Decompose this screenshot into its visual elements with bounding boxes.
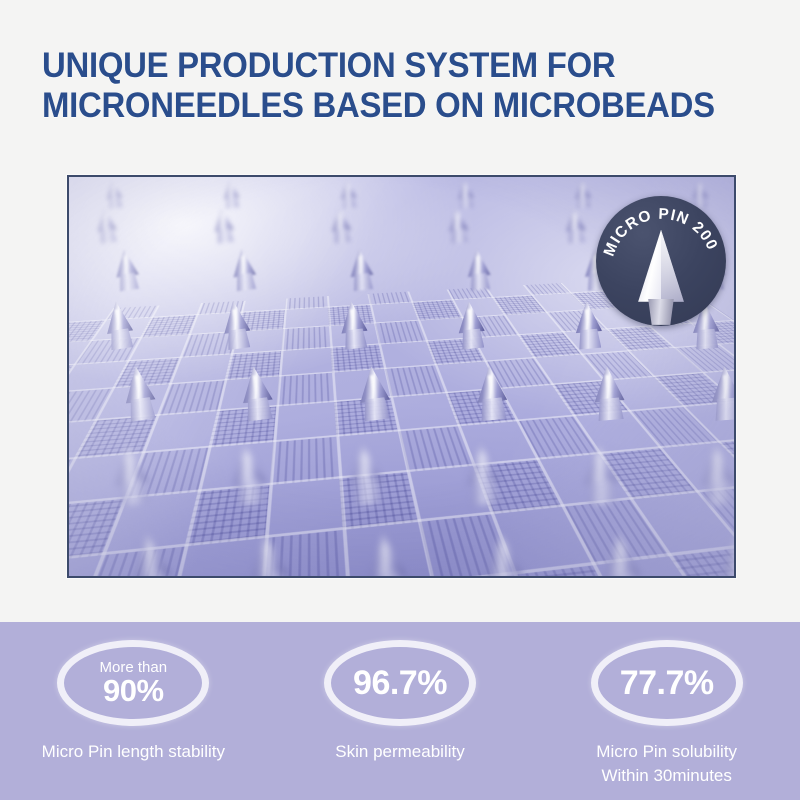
- micro-pin-200-badge: MICRO PIN 200: [596, 196, 726, 326]
- micro-needle: [457, 179, 475, 207]
- micro-needle: [356, 365, 392, 420]
- micro-needle: [574, 179, 592, 207]
- micro-needle: [230, 247, 258, 289]
- stat-caption-line: Within 30minutes: [533, 764, 800, 788]
- micro-needle: [464, 442, 503, 503]
- micro-needle: [699, 443, 734, 503]
- micro-needle: [591, 365, 625, 419]
- stat-ellipse: 96.7%: [324, 640, 476, 726]
- micro-needle: [600, 532, 642, 576]
- stat-caption: Micro Pin length stability: [0, 740, 267, 764]
- micro-needle: [465, 248, 492, 290]
- micro-needle: [718, 532, 734, 576]
- stat-caption-line: Micro Pin length stability: [0, 740, 267, 764]
- micro-needle: [709, 365, 734, 419]
- micro-needle: [238, 365, 274, 420]
- stat-value: 96.7%: [353, 665, 447, 701]
- infographic-page: UNIQUE PRODUCTION SYSTEM FOR MICRONEEDLE…: [0, 0, 800, 800]
- page-title-line-2: MICRONEEDLES BASED ON MICROBEADS: [42, 86, 738, 126]
- stat-caption-line: Micro Pin solubility: [533, 740, 800, 764]
- stat-caption: Micro Pin solubilityWithin 30minutes: [533, 740, 800, 788]
- stat-caption: Skin permeability: [267, 740, 534, 764]
- micro-needle: [346, 442, 386, 504]
- micro-needle: [121, 365, 158, 421]
- stat-ellipse: More than90%: [57, 640, 209, 726]
- stat-ellipse: 77.7%: [591, 640, 743, 726]
- stat-value: 90%: [103, 675, 164, 707]
- micro-needle: [564, 207, 586, 242]
- micro-needle: [455, 300, 486, 348]
- stat-item: More than90%Micro Pin length stability: [0, 622, 267, 800]
- stats-row: More than90%Micro Pin length stability96…: [0, 622, 800, 800]
- micro-needle: [212, 207, 235, 242]
- micro-needle: [348, 247, 375, 289]
- micro-needle: [582, 443, 620, 504]
- stats-band: More than90%Micro Pin length stability96…: [0, 622, 800, 800]
- micro-needle: [474, 365, 509, 420]
- page-title-line-1: UNIQUE PRODUCTION SYSTEM FOR: [42, 46, 738, 86]
- micro-needle-pyramid-icon: [635, 230, 687, 302]
- micro-needle: [447, 207, 469, 242]
- stat-item: 96.7%Skin permeability: [267, 622, 534, 800]
- stat-caption-line: Skin permeability: [267, 740, 534, 764]
- micro-needle: [220, 300, 252, 349]
- micro-needle: [482, 532, 525, 576]
- micro-needle: [339, 179, 358, 208]
- page-title: UNIQUE PRODUCTION SYSTEM FOR MICRONEEDLE…: [42, 46, 738, 126]
- stat-value: 77.7%: [620, 665, 714, 701]
- micro-needle: [338, 300, 369, 348]
- micro-needle: [329, 207, 352, 242]
- stat-item: 77.7%Micro Pin solubilityWithin 30minute…: [533, 622, 800, 800]
